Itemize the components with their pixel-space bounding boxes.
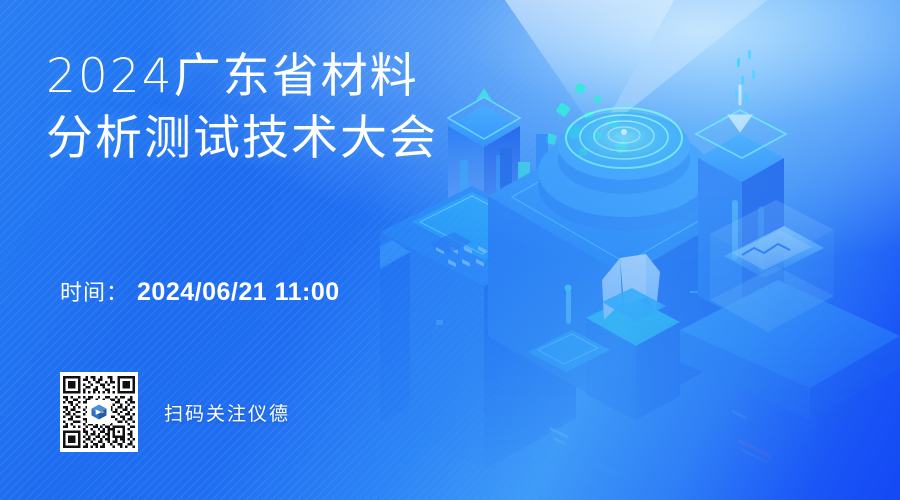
hologram-dashboard-block [680,200,900,464]
yide-arrow-logo-icon [87,400,111,424]
time-value: 2024/06/21 11:00 [137,278,340,307]
data-stream-dots [735,50,755,103]
event-banner: 2024广东省材料分析测试技术大会 时间： 2024/06/21 11:00 [0,0,900,500]
left-edge-pillar [380,240,410,430]
time-label: 时间： [60,275,129,307]
page-title: 2024广东省材料分析测试技术大会 [46,46,466,170]
qr-follow-row: 扫码关注仪德 [60,372,290,452]
qr-code[interactable] [60,372,138,452]
event-time-row: 时间： 2024/06/21 11:00 [60,275,340,307]
qr-caption: 扫码关注仪德 [164,399,290,426]
light-ribbon-3 [0,0,20,252]
